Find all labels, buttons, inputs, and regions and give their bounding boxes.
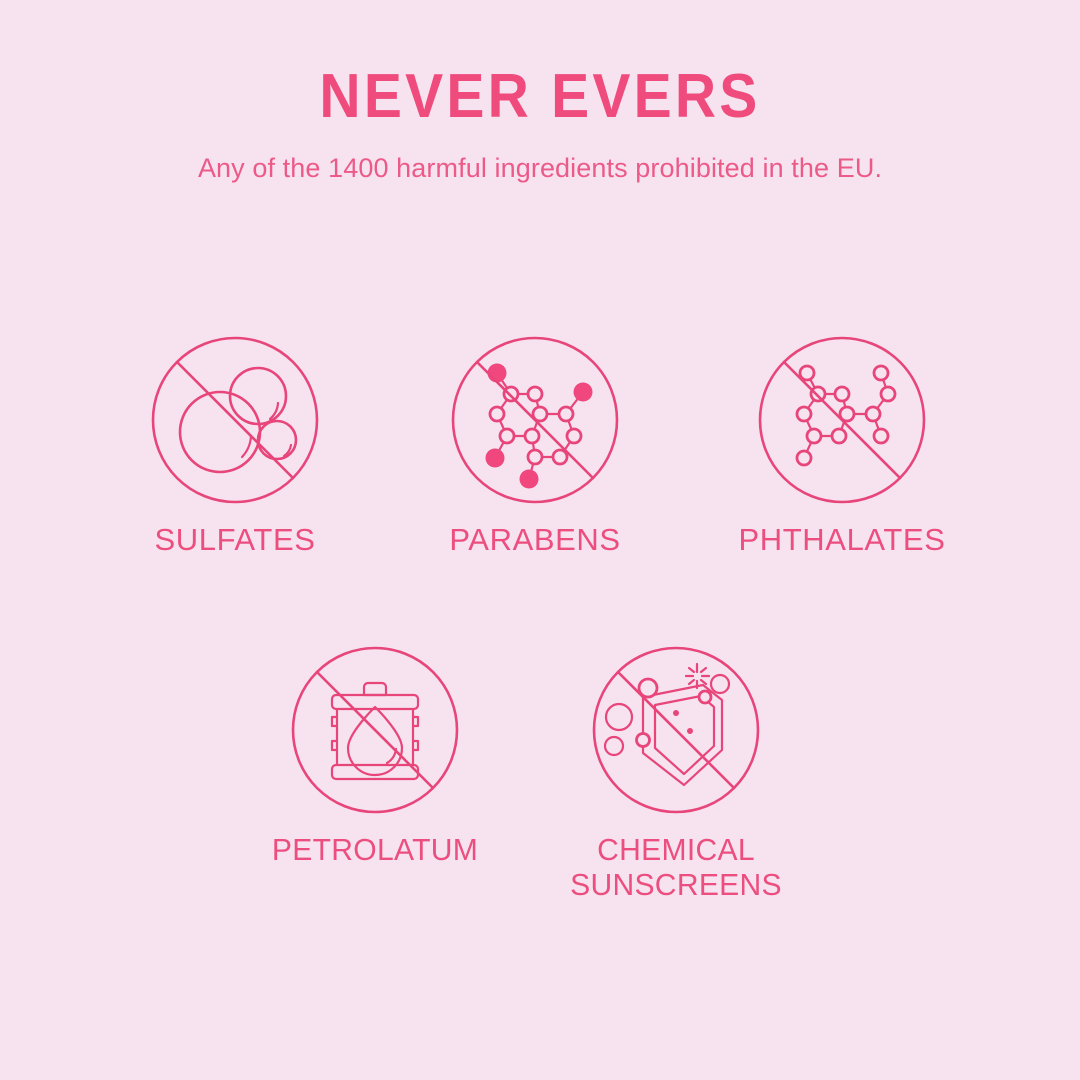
no-bubbles-icon <box>150 335 320 505</box>
grid-item-chemical-sunscreens: CHEMICAL SUNSCREENS <box>546 645 806 902</box>
grid-item-label: CHEMICAL SUNSCREENS <box>550 833 802 902</box>
no-chemical-sunscreen-icon <box>591 645 761 815</box>
grid-item-sulfates: SULFATES <box>105 335 365 558</box>
grid-item-label: PARABENS <box>405 523 665 558</box>
grid-item-phthalates: PHTHALATES <box>712 335 972 558</box>
no-oil-barrel-icon <box>290 645 460 815</box>
grid-item-parabens: PARABENS <box>405 335 665 558</box>
grid-item-petrolatum: PETROLATUM <box>245 645 505 868</box>
never-evers-infographic: NEVER EVERS Any of the 1400 harmful ingr… <box>0 0 1080 1080</box>
grid-item-label: PHTHALATES <box>712 523 972 558</box>
ingredient-grid: SULFATES <box>0 0 1080 1080</box>
no-molecule-outline-icon <box>757 335 927 505</box>
grid-item-label: PETROLATUM <box>249 833 501 868</box>
no-molecule-filled-icon <box>450 335 620 505</box>
grid-item-label: SULFATES <box>105 523 365 558</box>
